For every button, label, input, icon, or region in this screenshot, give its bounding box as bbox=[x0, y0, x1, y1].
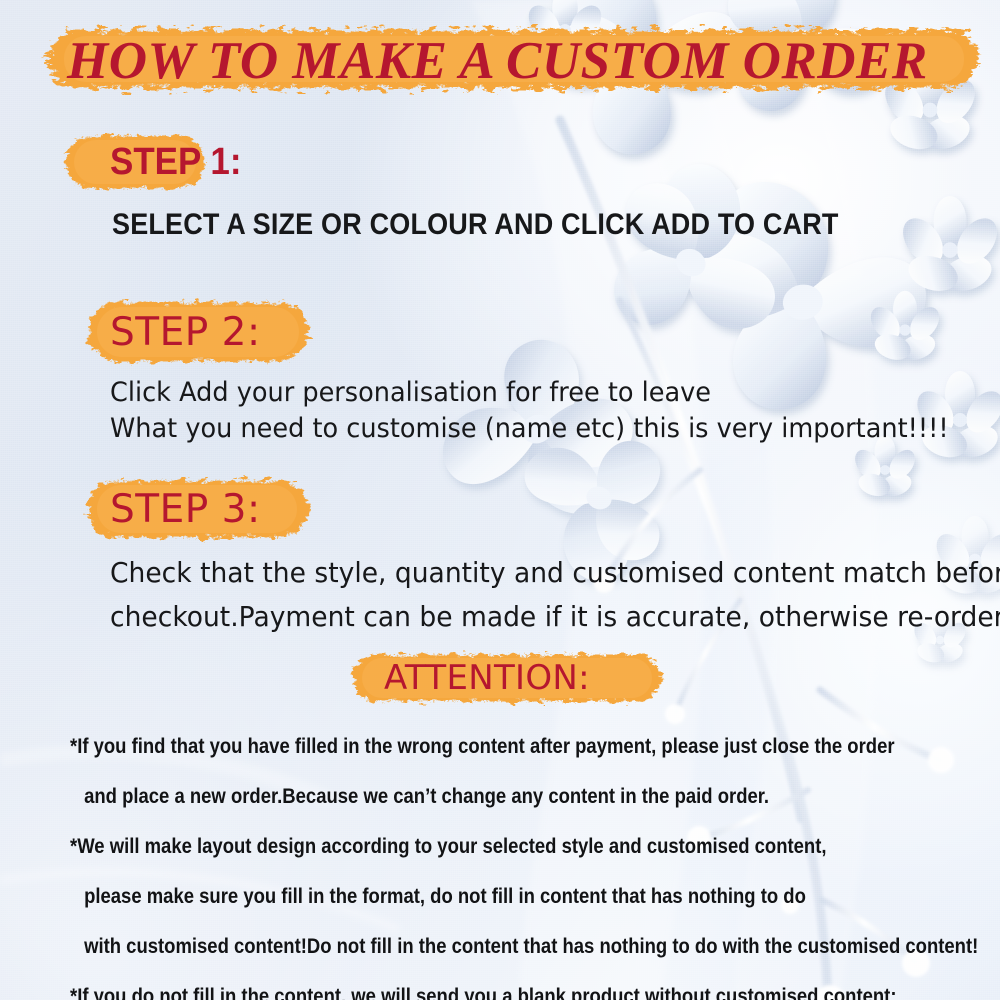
fine-print-line-4: please make sure you fill in the format,… bbox=[70, 872, 862, 922]
poster-title-band: HOW TO MAKE A CUSTOM ORDER bbox=[38, 24, 988, 98]
step-3-band: STEP 3: bbox=[83, 475, 313, 543]
step-2-line-2: What you need to customise (name etc) th… bbox=[110, 411, 949, 447]
step-1-line-1: SELECT A SIZE OR COLOUR AND CLICK ADD TO… bbox=[112, 208, 839, 242]
step-2-band: STEP 2: bbox=[83, 297, 313, 367]
instruction-poster: HOW TO MAKE A CUSTOM ORDER bbox=[0, 0, 1000, 1000]
fine-print-line-1: *If you find that you have filled in the… bbox=[70, 722, 862, 772]
step-2-line-1: Click Add your personalisation for free … bbox=[110, 375, 949, 411]
attention-band: ATTENTION: bbox=[348, 650, 666, 706]
step-3-line-1: Check that the style, quantity and custo… bbox=[110, 551, 1000, 595]
fine-print-line-6: *If you do not fill in the content, we w… bbox=[70, 972, 862, 1000]
step-1-label: STEP 1: bbox=[110, 141, 241, 184]
step-2-label: STEP 2: bbox=[110, 310, 261, 355]
step-3-line-2: checkout.Payment can be made if it is ac… bbox=[110, 595, 1000, 639]
step-2-body: Click Add your personalisation for free … bbox=[110, 375, 949, 447]
step-3-body: Check that the style, quantity and custo… bbox=[110, 551, 1000, 639]
page-title: HOW TO MAKE A CUSTOM ORDER bbox=[67, 31, 928, 91]
attention-label: ATTENTION: bbox=[384, 658, 590, 698]
step-1-body: SELECT A SIZE OR COLOUR AND CLICK ADD TO… bbox=[112, 208, 839, 242]
step-3-label: STEP 3: bbox=[110, 487, 261, 532]
fine-print-line-3: *We will make layout design according to… bbox=[70, 822, 862, 872]
step-1-band: STEP 1: bbox=[62, 131, 208, 193]
attention-fine-print: *If you find that you have filled in the… bbox=[70, 722, 970, 1000]
fine-print-line-5: with customised content!Do not fill in t… bbox=[70, 922, 862, 972]
fine-print-line-2: and place a new order.Because we can’t c… bbox=[70, 772, 862, 822]
